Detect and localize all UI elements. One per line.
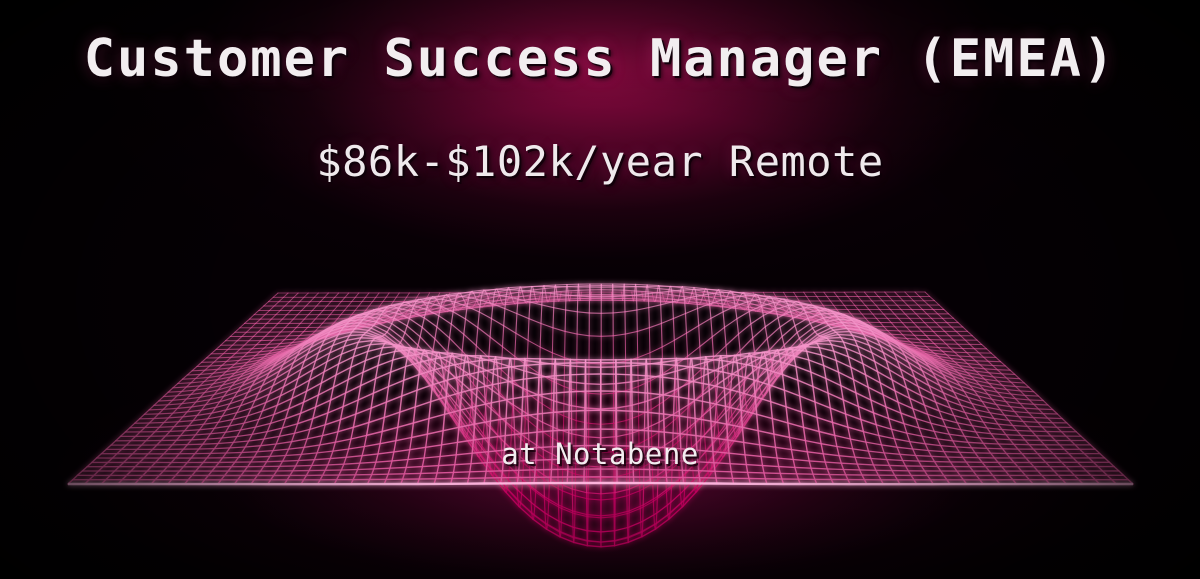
salary-location-line: $86k-$102k/year Remote [0, 137, 1200, 186]
poster-canvas: Customer Success Manager (EMEA) $86k-$10… [0, 0, 1200, 579]
company-name: at Notabene [0, 437, 1200, 471]
job-title: Customer Success Manager (EMEA) [0, 29, 1200, 89]
